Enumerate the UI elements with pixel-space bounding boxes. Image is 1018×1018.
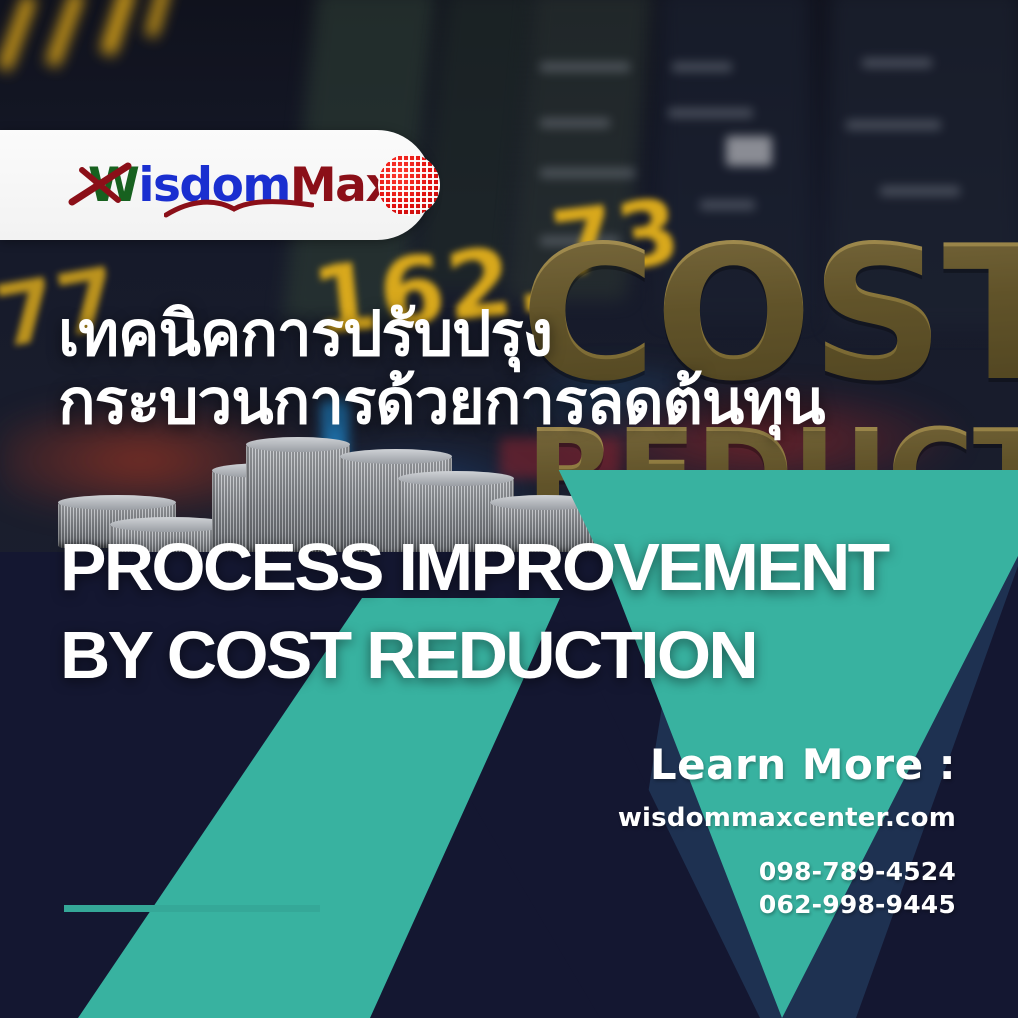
ticker-row (880, 186, 960, 196)
red-halftone-sphere-icon (378, 154, 440, 216)
wisdommax-logo[interactable]: W isdom Max (88, 154, 440, 216)
ticker-row (540, 118, 610, 128)
english-headline-line2: BY COST REDUCTION (60, 612, 996, 700)
ticker-row (540, 62, 630, 72)
teal-divider (64, 905, 320, 912)
logo-x-stroke-icon (66, 160, 136, 208)
english-headline-line1: PROCESS IMPROVEMENT (60, 524, 996, 612)
ticker-row (668, 108, 753, 118)
website-link[interactable]: wisdommaxcenter.com (536, 803, 956, 833)
learn-more-label: Learn More : (536, 740, 956, 789)
thai-headline-line1: เทคนิคการปรับปรุง (58, 300, 938, 368)
ticker-row (672, 62, 732, 72)
ticker-row (862, 58, 932, 68)
thai-headline: เทคนิคการปรับปรุง กระบวนการด้วยการลดต้นท… (58, 300, 938, 436)
contact-block: Learn More : wisdommaxcenter.com 098-789… (536, 740, 956, 922)
logo-text-isdom: isdom (138, 158, 290, 213)
ticker-row (540, 168, 635, 178)
phone-number-1[interactable]: 098-789-4524 (536, 855, 956, 888)
promotional-poster: 162. 73 77 COST REDUCTION (0, 0, 1018, 1018)
ticker-highlight (726, 136, 772, 166)
ticker-row (846, 120, 941, 130)
english-headline: PROCESS IMPROVEMENT BY COST REDUCTION (60, 524, 996, 701)
logo-panel[interactable]: W isdom Max (0, 130, 432, 240)
thai-headline-line2: กระบวนการด้วยการลดต้นทุน (58, 368, 938, 436)
phone-number-2[interactable]: 062-998-9445 (536, 888, 956, 921)
